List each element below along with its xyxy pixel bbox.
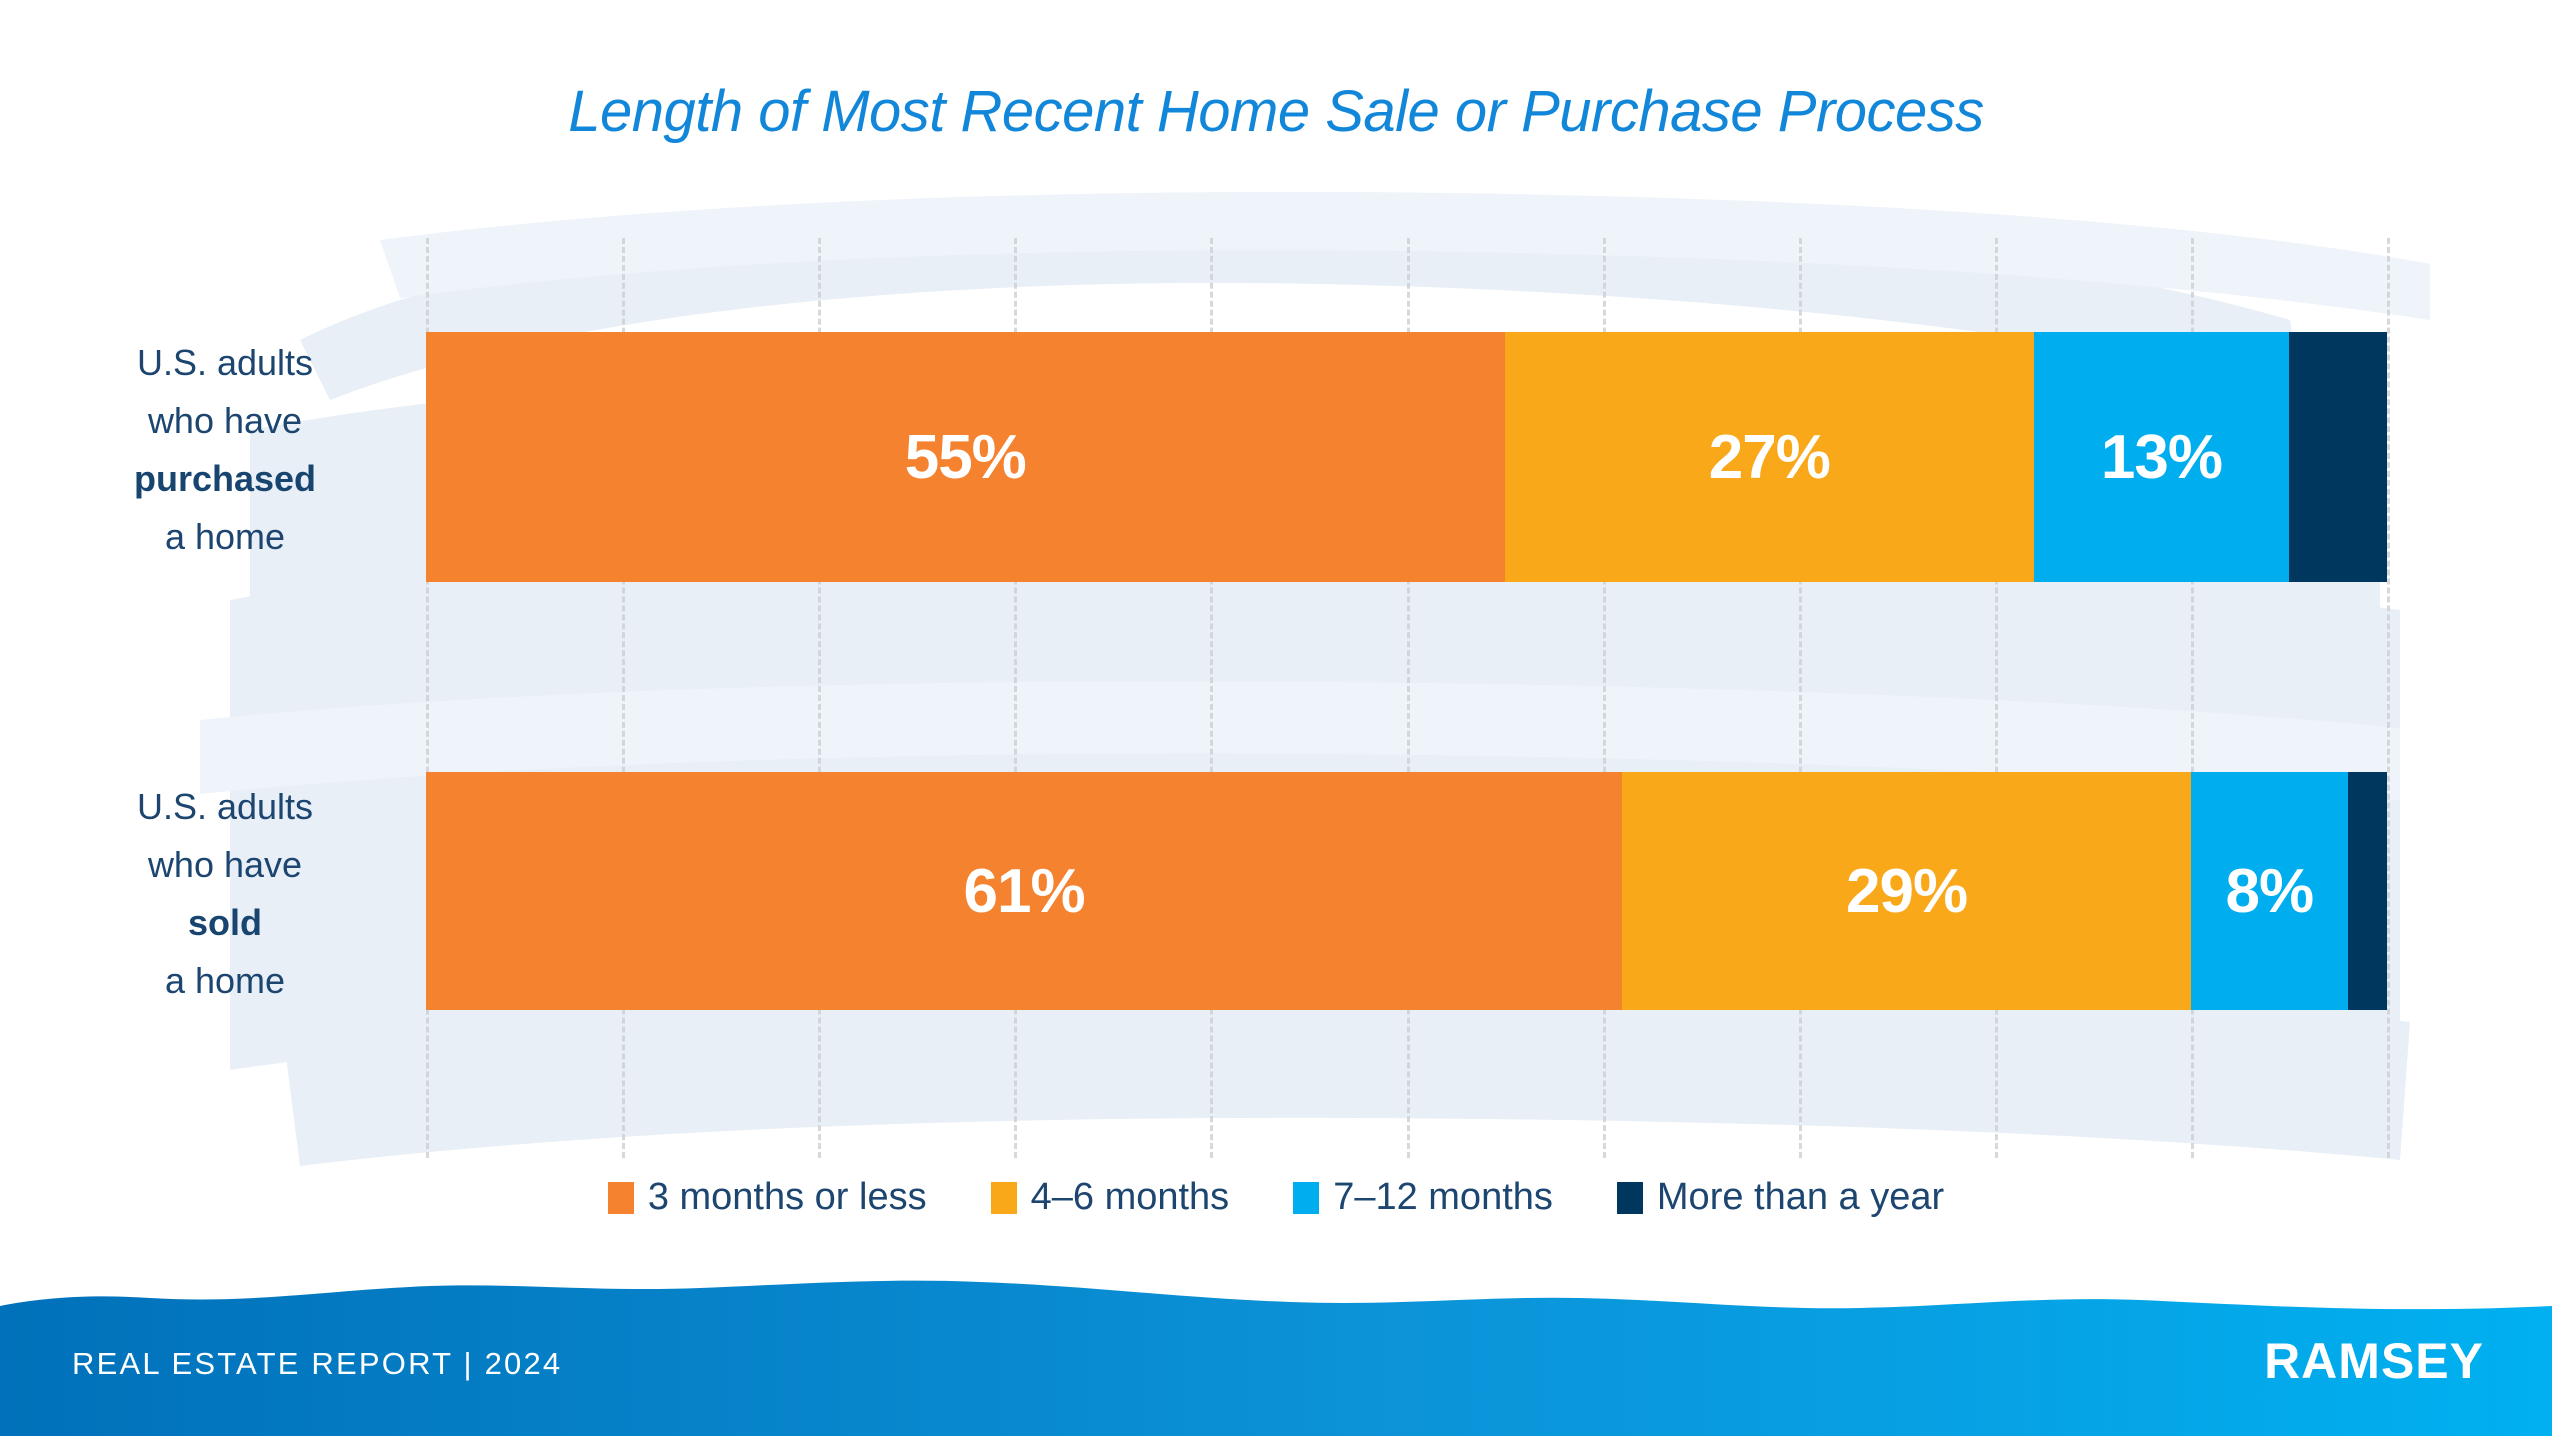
category-label-sold-line2: who have (60, 836, 390, 894)
bar-row-sold: 61% 29% 8% (426, 772, 2387, 1010)
square-swatch-icon (608, 1182, 634, 1214)
category-label-sold-line4: a home (60, 952, 390, 1010)
bar-segment-sold-7-12-months[interactable]: 8% (2191, 772, 2348, 1010)
legend-label-4-6-months: 4–6 months (1031, 1176, 1230, 1219)
category-label-sold: U.S. adults who have sold a home (60, 778, 390, 1010)
footer-report-label: REAL ESTATE REPORT | 2024 (72, 1346, 562, 1382)
legend-label-more-than-a-year: More than a year (1657, 1176, 1944, 1219)
legend-item-more-than-a-year[interactable]: More than a year (1617, 1176, 1944, 1219)
ramsey-logo: RAMSEY (2264, 1332, 2484, 1390)
category-label-purchased: U.S. adults who have purchased a home (60, 334, 390, 566)
bar-segment-purchased-7-12-months[interactable]: 13% (2034, 332, 2289, 582)
square-swatch-icon (991, 1182, 1017, 1214)
legend-label-3-months-or-less: 3 months or less (648, 1176, 927, 1219)
bar-segment-purchased-3-months-or-less[interactable]: 55% (426, 332, 1505, 582)
chart-plot-area: 55% 27% 13% 61% 29% 8% (426, 238, 2387, 1158)
footer-bar: REAL ESTATE REPORT | 2024 RAMSEY (0, 1276, 2552, 1436)
square-swatch-icon (1293, 1182, 1319, 1214)
stacked-bar-sold: 61% 29% 8% (426, 772, 2387, 1010)
legend-item-7-12-months[interactable]: 7–12 months (1293, 1176, 1553, 1219)
bar-segment-sold-3-months-or-less[interactable]: 61% (426, 772, 1622, 1010)
bar-segment-purchased-more-than-a-year[interactable] (2289, 332, 2387, 582)
legend-label-7-12-months: 7–12 months (1333, 1176, 1553, 1219)
square-swatch-icon (1617, 1182, 1643, 1214)
category-label-purchased-line4: a home (60, 508, 390, 566)
page-title: Length of Most Recent Home Sale or Purch… (0, 78, 2552, 145)
category-label-purchased-emphasis: purchased (134, 458, 316, 499)
chart-legend: 3 months or less 4–6 months 7–12 months … (0, 1176, 2552, 1219)
category-label-purchased-line1: U.S. adults (60, 334, 390, 392)
category-label-sold-emphasis: sold (188, 902, 262, 943)
bar-segment-sold-4-6-months[interactable]: 29% (1622, 772, 2191, 1010)
bar-segment-purchased-4-6-months[interactable]: 27% (1505, 332, 2034, 582)
infographic-canvas: Length of Most Recent Home Sale or Purch… (0, 0, 2552, 1436)
legend-item-3-months-or-less[interactable]: 3 months or less (608, 1176, 927, 1219)
bar-row-purchased: 55% 27% 13% (426, 332, 2387, 582)
stacked-bar-purchased: 55% 27% 13% (426, 332, 2387, 582)
bar-segment-sold-more-than-a-year[interactable] (2348, 772, 2387, 1010)
gridline-100 (2387, 238, 2390, 1158)
category-label-sold-line1: U.S. adults (60, 778, 390, 836)
category-label-purchased-line2: who have (60, 392, 390, 450)
legend-item-4-6-months[interactable]: 4–6 months (991, 1176, 1230, 1219)
